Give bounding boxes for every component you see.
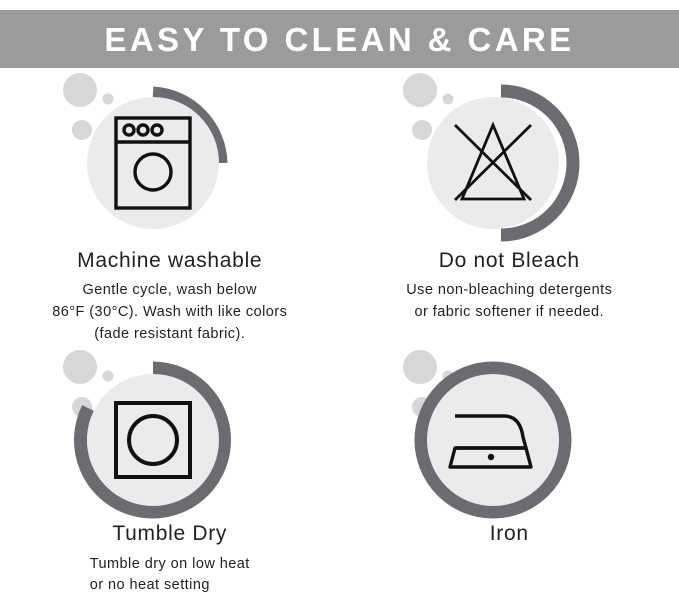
bubble-large-icon — [403, 73, 437, 107]
care-card-iron: Iron — [340, 345, 679, 597]
washing-machine-icon-stage — [58, 68, 288, 243]
body-line: Tumble dry on low heat — [90, 556, 250, 572]
care-instructions-grid: Machine washable Gentle cycle, wash belo… — [0, 68, 679, 593]
bubble-small-icon — [102, 371, 113, 382]
bubble-small-icon — [443, 94, 454, 105]
bubble-large-icon — [63, 73, 97, 107]
page-title: EASY TO CLEAN & CARE — [104, 23, 574, 56]
care-card-body-machine-washable: Gentle cycle, wash below 86°F (30°C). Wa… — [52, 280, 287, 345]
iron-icon — [398, 345, 628, 520]
tumble-dry-icon-stage — [58, 345, 288, 520]
body-line: or fabric softener if needed. — [414, 304, 604, 320]
care-card-machine-washable: Machine washable Gentle cycle, wash belo… — [0, 68, 340, 345]
icon-circle-background — [427, 374, 559, 506]
care-card-title-machine-washable: Machine washable — [77, 249, 262, 273]
bubble-small-icon — [102, 94, 113, 105]
body-line: (fade resistant fabric). — [94, 326, 245, 342]
iron-dot-icon — [488, 454, 494, 460]
no-bleach-icon — [398, 68, 628, 243]
bubble-large-icon — [63, 350, 97, 384]
care-card-body-do-not-bleach: Use non-bleaching detergents or fabric s… — [406, 280, 612, 324]
header-banner: EASY TO CLEAN & CARE — [0, 10, 679, 68]
body-line: Use non-bleaching detergents — [406, 282, 612, 298]
care-card-title-tumble-dry: Tumble Dry — [112, 522, 227, 546]
care-card-tumble-dry: Tumble Dry Tumble dry on low heat or no … — [0, 345, 340, 597]
icon-circle-background — [87, 374, 219, 506]
no-bleach-icon-stage — [398, 68, 628, 243]
care-card-title-iron: Iron — [490, 522, 529, 546]
bubble-large-icon — [403, 350, 437, 384]
care-card-title-do-not-bleach: Do not Bleach — [439, 249, 580, 273]
iron-icon-stage — [398, 345, 628, 520]
care-card-body-tumble-dry: Tumble dry on low heat or no heat settin… — [90, 554, 250, 597]
body-line: or no heat setting — [90, 577, 210, 593]
washing-machine-icon — [58, 68, 288, 243]
body-line: Gentle cycle, wash below — [83, 282, 257, 298]
bubble-medium-icon — [412, 120, 432, 140]
care-card-do-not-bleach: Do not Bleach Use non-bleaching detergen… — [340, 68, 679, 345]
bubble-medium-icon — [72, 120, 92, 140]
tumble-dry-icon — [58, 345, 288, 520]
body-line: 86°F (30°C). Wash with like colors — [52, 304, 287, 320]
header-banner-background: EASY TO CLEAN & CARE — [0, 10, 679, 68]
